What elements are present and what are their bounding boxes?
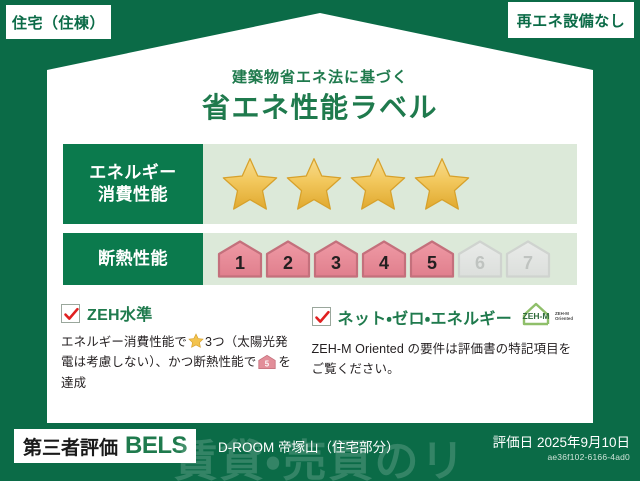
badge-building-type: 住宅（住棟）: [6, 5, 111, 39]
note-zeh-header: ZEH水準: [61, 301, 294, 325]
insulation-level-label-6: 6: [475, 253, 485, 279]
insulation-level-5: 5: [409, 239, 455, 279]
insulation-level-scale: 1234567: [203, 233, 577, 285]
insulation-level-label-4: 4: [379, 253, 389, 279]
row-insulation-label: 断熱性能: [63, 233, 203, 285]
row-energy-label-line1: エネルギー: [89, 163, 177, 182]
insulation-level-label-1: 1: [235, 253, 245, 279]
checkbox-zeh-standard[interactable]: [61, 304, 80, 323]
inline-house-level-icon: 5: [258, 354, 276, 370]
insulation-level-label-5: 5: [427, 253, 437, 279]
title-block: 建築物省エネ法に基づく 省エネ性能ラベル: [47, 70, 593, 122]
evaluation-date-value: 2025年9月10日: [537, 435, 630, 450]
bels-jp-text: 第三者評価: [23, 433, 118, 460]
insulation-level-6: 6: [457, 239, 503, 279]
energy-star-rating: [203, 144, 577, 224]
insulation-level-2: 2: [265, 239, 311, 279]
bels-en-text: BELS: [125, 432, 187, 460]
notes-section: ZEH水準 エネルギー消費性能で3つ（太陽光発電は考慮しない）、かつ断熱性能で5…: [61, 301, 577, 393]
star-icon-1: [285, 156, 343, 212]
evaluation-date: 評価日 2025年9月10日: [493, 431, 630, 451]
svg-text:5: 5: [265, 360, 270, 369]
row-energy-performance: エネルギー 消費性能: [63, 144, 577, 224]
main-panel: 建築物省エネ法に基づく 省エネ性能ラベル エネルギー 消費性能 断熱性能 123…: [47, 70, 593, 423]
note-zeh-text-1: エネルギー消費性能で: [61, 335, 187, 349]
insulation-level-label-7: 7: [523, 253, 533, 279]
bels-logo: 第三者評価 BELS: [14, 429, 196, 463]
note-nze-body: ZEH-M Oriented の要件は評価書の特記項目をご覧ください。: [312, 339, 577, 380]
insulation-level-1: 1: [217, 239, 263, 279]
row-energy-label-line2: 消費性能: [98, 185, 168, 204]
check-icon: [63, 306, 80, 323]
note-net-zero-energy: ネット・ゼロ・エネルギー ZEH-M ZEH-M Oriented ZEH-M …: [304, 301, 577, 393]
inline-star-icon: [188, 333, 204, 349]
evaluation-id: ae36f102-6166-4ad0: [547, 452, 630, 462]
svg-text:ZEH-M: ZEH-M: [523, 311, 550, 321]
insulation-level-label-3: 3: [331, 253, 341, 279]
insulation-level-7: 7: [505, 239, 551, 279]
note-zeh-title: ZEH水準: [87, 301, 153, 325]
svg-text:Oriented: Oriented: [555, 316, 573, 321]
zeh-m-logo: ZEH-M ZEH-M Oriented: [521, 301, 577, 332]
badge-renewable-energy: 再エネ設備なし: [508, 2, 634, 38]
row-insulation-performance: 断熱性能 1234567: [63, 233, 577, 285]
insulation-level-4: 4: [361, 239, 407, 279]
evaluation-date-label: 評価日: [493, 435, 534, 450]
rating-rows: エネルギー 消費性能 断熱性能 1234567: [63, 144, 577, 285]
page-title: 省エネ性能ラベル: [47, 94, 593, 122]
insulation-level-label-2: 2: [283, 253, 293, 279]
star-icon-0: [221, 156, 279, 212]
label-subtitle: 建築物省エネ法に基づく: [47, 70, 593, 85]
building-name: D-ROOM 帝塚山（住宅部分）: [218, 436, 400, 456]
note-nze-title: ネット・ゼロ・エネルギー: [338, 305, 512, 329]
insulation-level-3: 3: [313, 239, 359, 279]
note-zeh-body: エネルギー消費性能で3つ（太陽光発電は考慮しない）、かつ断熱性能で5を達成: [61, 332, 294, 393]
star-icon-2: [349, 156, 407, 212]
note-zeh-standard: ZEH水準 エネルギー消費性能で3つ（太陽光発電は考慮しない）、かつ断熱性能で5…: [61, 301, 294, 393]
check-icon: [314, 309, 331, 326]
row-energy-label: エネルギー 消費性能: [63, 144, 203, 224]
note-nze-header: ネット・ゼロ・エネルギー ZEH-M ZEH-M Oriented: [312, 301, 577, 332]
label-canvas: 住宅（住棟） 再エネ設備なし 建築物省エネ法に基づく 省エネ性能ラベル エネルギ…: [0, 0, 640, 481]
footer: 第三者評価 BELS D-ROOM 帝塚山（住宅部分） 評価日 2025年9月1…: [0, 423, 640, 481]
checkbox-net-zero-energy[interactable]: [312, 307, 331, 326]
star-icon-3: [413, 156, 471, 212]
